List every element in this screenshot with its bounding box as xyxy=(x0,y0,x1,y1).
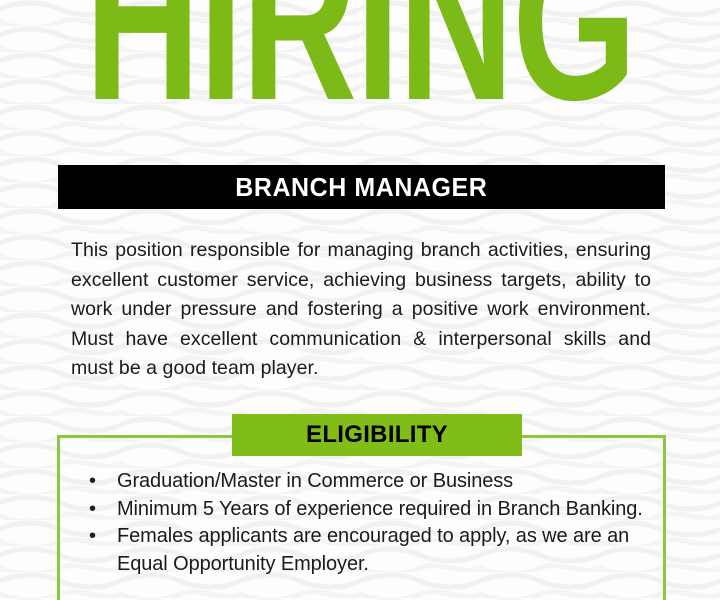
job-title-label: BRANCH MANAGER xyxy=(235,172,487,203)
list-item: • Females applicants are encouraged to a… xyxy=(74,523,654,578)
page-title: HIRING xyxy=(72,0,648,146)
eligibility-heading-banner: ELIGIBILITY xyxy=(232,414,522,456)
list-item: • Minimum 5 Years of experience required… xyxy=(74,496,654,524)
list-item-label: Females applicants are encouraged to app… xyxy=(117,525,629,575)
bullet-icon: • xyxy=(89,496,96,524)
list-item-label: Minimum 5 Years of experience required i… xyxy=(117,498,643,520)
list-item-label: Graduation/Master in Commerce or Busines… xyxy=(117,470,513,492)
hiring-poster: HIRING BRANCH MANAGER This position resp… xyxy=(0,0,720,600)
job-description: This position responsible for managing b… xyxy=(71,236,651,384)
eligibility-list: • Graduation/Master in Commerce or Busin… xyxy=(74,468,654,578)
list-item: • Graduation/Master in Commerce or Busin… xyxy=(74,468,654,496)
job-title-banner: BRANCH MANAGER xyxy=(58,165,665,209)
bullet-icon: • xyxy=(89,523,96,551)
eligibility-heading-label: ELIGIBILITY xyxy=(306,421,448,449)
bullet-icon: • xyxy=(89,468,96,496)
